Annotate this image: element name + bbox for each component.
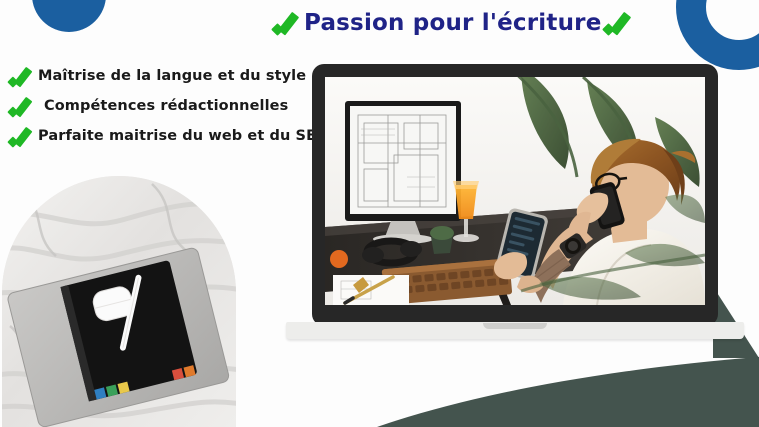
- list-item: Parfaite maitrise du web et du SEO: [8, 122, 329, 150]
- check-icon: [8, 93, 34, 119]
- check-icon: [272, 8, 302, 38]
- list-item: Maîtrise de la langue et du style: [8, 62, 329, 90]
- page-title: Passion pour l'écriture: [304, 10, 602, 36]
- dark-green-corner-accent: [713, 282, 759, 358]
- list-item-label: Maîtrise de la langue et du style: [38, 68, 306, 84]
- slide-canvas: Passion pour l'écriture Maîtrise de la l…: [0, 0, 759, 427]
- arch-photo-laptop-notebook: [2, 176, 236, 427]
- workspace-photo-illustration: [325, 77, 705, 305]
- arch-photo-illustration: [2, 176, 236, 427]
- laptop-notch: [483, 323, 547, 329]
- list-item-label: Compétences rédactionnelles: [44, 98, 288, 114]
- blue-half-circle-shape: [32, 0, 106, 32]
- list-item-label: Parfaite maitrise du web et du SEO: [38, 128, 329, 144]
- list-item: Compétences rédactionnelles: [8, 92, 329, 120]
- check-icon: [8, 123, 34, 149]
- dark-green-curved-base: [224, 348, 759, 427]
- check-icon: [604, 8, 634, 38]
- blue-ring-shape: [676, 0, 759, 70]
- laptop-mockup: [312, 64, 718, 326]
- headline: Passion pour l'écriture: [272, 8, 634, 38]
- skills-list: Maîtrise de la langue et du style Compét…: [8, 62, 329, 150]
- laptop-screen: [325, 77, 705, 305]
- check-icon: [8, 63, 34, 89]
